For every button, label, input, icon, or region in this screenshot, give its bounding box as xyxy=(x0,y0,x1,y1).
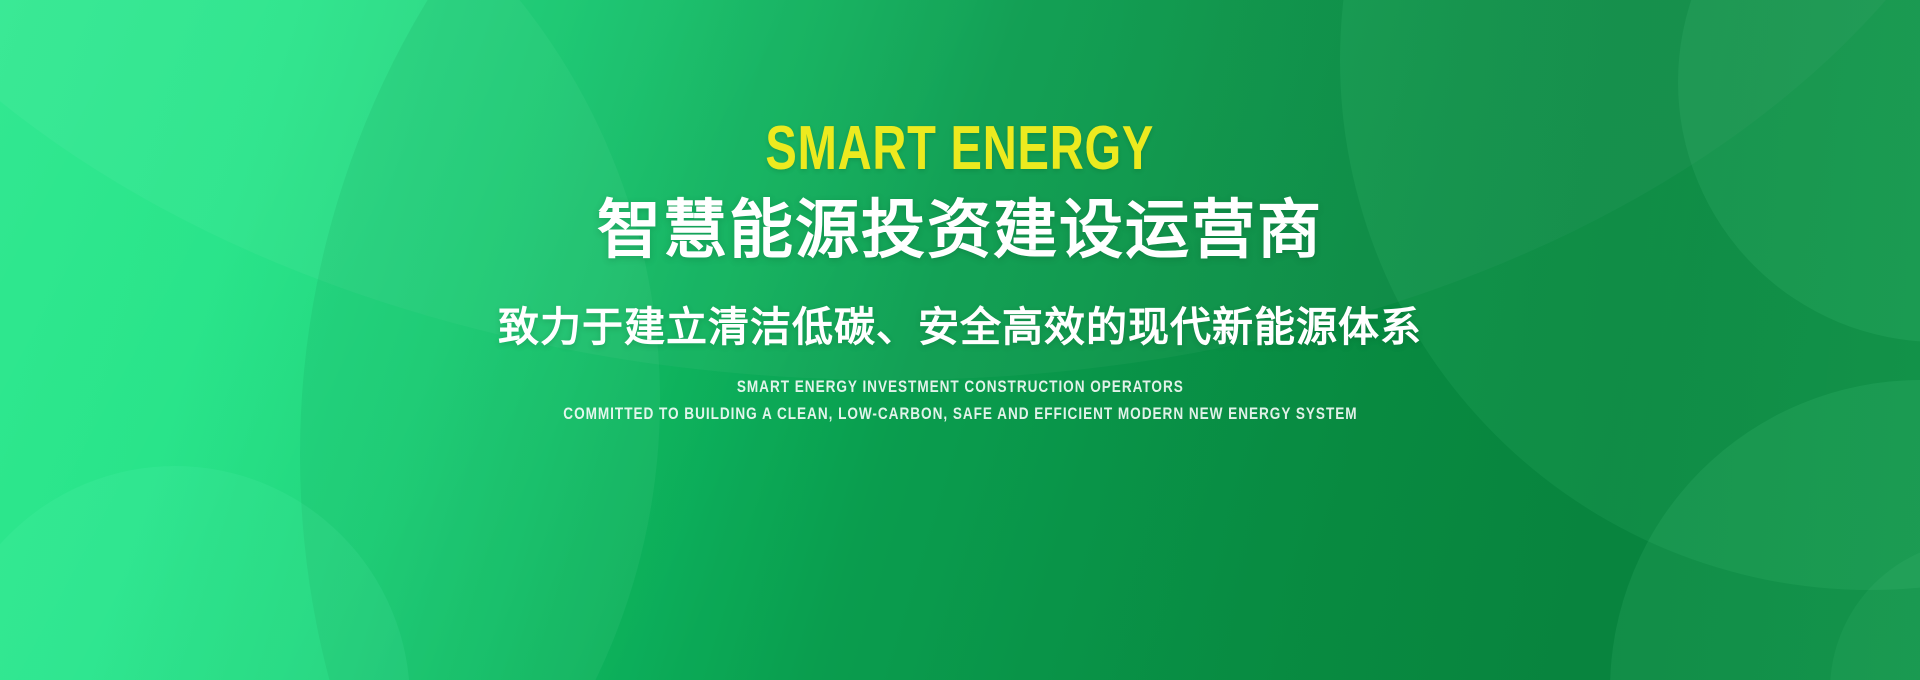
headline-chinese: 智慧能源投资建设运营商 xyxy=(597,196,1323,265)
subheading-chinese: 致力于建立清洁低碳、安全高效的现代新能源体系 xyxy=(498,305,1422,350)
tagline-line-1: SMART ENERGY INVESTMENT CONSTRUCTION OPE… xyxy=(737,376,1184,397)
tagline-line-2: COMMITTED TO BUILDING A CLEAN, LOW-CARBO… xyxy=(563,403,1357,424)
headline-english: SMART ENERGY xyxy=(766,118,1155,180)
hero-banner: SMART ENERGY 智慧能源投资建设运营商 致力于建立清洁低碳、安全高效的… xyxy=(0,0,1920,680)
banner-text-stack: SMART ENERGY 智慧能源投资建设运营商 致力于建立清洁低碳、安全高效的… xyxy=(0,0,1920,680)
tagline-group: SMART ENERGY INVESTMENT CONSTRUCTION OPE… xyxy=(464,376,1457,425)
